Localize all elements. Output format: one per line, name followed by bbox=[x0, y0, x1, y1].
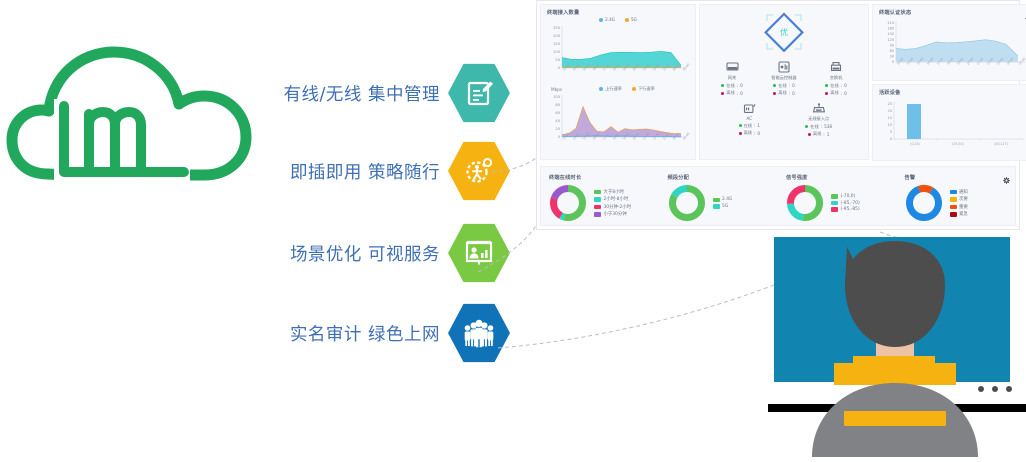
offline-count: 0 bbox=[740, 91, 743, 96]
offline-label: 离线 bbox=[830, 90, 838, 96]
card-device-status: 优 网关 bbox=[699, 4, 869, 160]
device-name: 无线接入点 bbox=[793, 116, 845, 122]
legend-label: 5G bbox=[722, 204, 728, 209]
svg-text:20: 20 bbox=[555, 127, 560, 131]
offline-count: 0 bbox=[844, 91, 847, 96]
chart-auth-status: 210180150 1209060 300 13:00 14:00 15:00 bbox=[873, 17, 1026, 75]
device-cell-switch[interactable]: 交换机 在线 : 0 离线 : 0 bbox=[810, 59, 862, 96]
legend-item: 下行速率 bbox=[632, 86, 655, 92]
legend-label: 大于8小时 bbox=[604, 189, 624, 195]
donut-chart bbox=[547, 182, 589, 224]
cloud-controller-icon bbox=[758, 59, 810, 74]
dot-indicator bbox=[992, 386, 998, 392]
svg-text:0: 0 bbox=[890, 137, 892, 141]
legend-item: 通知 bbox=[950, 189, 968, 195]
online-label: 在线 bbox=[744, 123, 752, 129]
card-title: 活跃设备 bbox=[879, 89, 1026, 96]
device-offline: 离线 : 0 bbox=[810, 90, 862, 96]
legend-swatch bbox=[594, 197, 601, 202]
offline-dot bbox=[825, 92, 828, 95]
feature-icon-hex bbox=[448, 140, 510, 202]
legend-label: 2小时-8小时 bbox=[604, 196, 629, 202]
svg-text:(0,25): (0,25) bbox=[910, 142, 920, 146]
donut-body: 2.4G 5G bbox=[660, 182, 779, 224]
legend-swatch bbox=[599, 18, 603, 22]
legend-item: 上行速率 bbox=[599, 86, 622, 92]
donut-legend: 大于8小时 2小时-8小时 30分钟-2小时 bbox=[594, 189, 631, 218]
device-row: AC 在线 : 1 离线 : 0 bbox=[706, 100, 862, 137]
device-name: 智能云控制器 bbox=[758, 75, 810, 81]
online-label: 在线 bbox=[810, 124, 818, 130]
feature-item-scene-optimization[interactable]: 场景优化 可视服务 bbox=[290, 222, 510, 284]
legend-label: (-95,-85) bbox=[841, 207, 860, 212]
svg-text:150: 150 bbox=[553, 42, 561, 46]
online-dot bbox=[773, 84, 776, 87]
offline-count: 0 bbox=[792, 91, 795, 96]
feature-label: 有线/无线 集中管理 bbox=[284, 81, 440, 106]
rate-chart-unit: Mbps bbox=[551, 87, 562, 92]
donut-alarms: 告警 通知 次要 bbox=[897, 167, 1016, 225]
card-title: 频段分配 bbox=[668, 174, 779, 181]
chart-terminal-access: 250200150 100500 13:00 14:00 15:00 16:00… bbox=[543, 22, 693, 82]
brand-logo bbox=[6, 22, 252, 208]
quality-badge: 优 bbox=[700, 7, 868, 57]
device-online: 在线 : 0 bbox=[810, 83, 862, 89]
legend-swatch bbox=[713, 204, 720, 209]
legend-item: 小于30分钟 bbox=[594, 211, 631, 217]
offline-label: 离线 bbox=[778, 90, 786, 96]
online-label: 在线 bbox=[830, 83, 838, 89]
offline-label: 离线 bbox=[813, 131, 821, 137]
cloud-lm-logo bbox=[6, 22, 252, 208]
legend-swatch bbox=[594, 205, 601, 210]
feature-icon-hex bbox=[448, 62, 510, 124]
donut-body: 通知 次要 重要 紧急 bbox=[897, 182, 1016, 224]
legend-item: (-85,-70) bbox=[831, 201, 860, 206]
chart-throughput-rate: 1008060 40200 13:00 14:00 15:00 16:00 17… bbox=[543, 92, 693, 154]
card-active-devices: 活跃设备 252015 1050 bbox=[872, 84, 1026, 161]
svg-text:5: 5 bbox=[890, 130, 892, 134]
svg-text:10: 10 bbox=[888, 123, 892, 127]
svg-text:01:00: 01:00 bbox=[682, 131, 691, 140]
legend-item: 大于8小时 bbox=[594, 189, 631, 195]
device-cell-access-point[interactable]: 无线接入点 在线 : 538 离线 : 1 bbox=[793, 100, 845, 137]
donut-legend: 通知 次要 重要 紧急 bbox=[950, 189, 968, 218]
online-dot bbox=[739, 124, 742, 127]
device-name: 网关 bbox=[706, 75, 758, 81]
legend-item: 次要 bbox=[950, 196, 968, 202]
card-title: 终端认证状态 bbox=[879, 9, 1026, 16]
rate-chart-legend: 上行速率 下行速率 bbox=[559, 86, 695, 92]
offline-dot bbox=[739, 132, 742, 135]
device-offline: 离线 : 0 bbox=[723, 130, 775, 136]
card-title: 信号强度 bbox=[786, 174, 897, 181]
svg-text:210: 210 bbox=[888, 21, 894, 25]
access-point-icon bbox=[793, 100, 845, 115]
online-dot bbox=[805, 125, 808, 128]
offline-label: 离线 bbox=[744, 130, 752, 136]
device-online: 在线 : 1 bbox=[723, 123, 775, 129]
online-dot bbox=[825, 84, 828, 87]
svg-text:0: 0 bbox=[558, 66, 561, 70]
card-title: 告警 bbox=[905, 174, 1016, 181]
donut-body: (-70,0) (-85,-70) (-95,-85) bbox=[778, 182, 897, 224]
bar-0 bbox=[907, 104, 921, 139]
legend-label: (-70,0) bbox=[841, 194, 856, 199]
legend-label: 30分钟-2小时 bbox=[604, 204, 632, 210]
chart-active-devices: 252015 1050 (0,25) (25,50) bbox=[873, 97, 1026, 155]
ac-controller-icon bbox=[723, 100, 775, 115]
donut-chart bbox=[784, 182, 826, 224]
donut-chart bbox=[903, 182, 945, 224]
svg-text:50: 50 bbox=[555, 58, 560, 62]
dashboard-top-row: 终端接入数量 2.4G 5G 250200150 100500 bbox=[537, 1, 1019, 163]
online-count: 0 bbox=[844, 83, 847, 88]
svg-text:20: 20 bbox=[888, 109, 892, 113]
legend-label: 重要 bbox=[959, 204, 968, 210]
legend-item: (-70,0) bbox=[831, 194, 860, 199]
device-name: AC bbox=[723, 116, 775, 121]
legend-swatch bbox=[632, 87, 636, 91]
legend-swatch bbox=[950, 212, 957, 217]
shirt-stripe bbox=[844, 411, 946, 426]
device-online: 在线 : 0 bbox=[706, 83, 758, 89]
online-count: 538 bbox=[824, 124, 832, 129]
device-cell-cloud-controller[interactable]: 智能云控制器 在线 : 0 离线 : 0 bbox=[758, 59, 810, 96]
online-count: 0 bbox=[792, 83, 795, 88]
card-auth-status: 终端认证状态 210180150 1209060 300 13:00 bbox=[872, 4, 1026, 81]
online-label: 在线 bbox=[778, 83, 786, 89]
donut-band-allocation: 频段分配 2.4G bbox=[660, 167, 779, 225]
gear-person-icon bbox=[448, 140, 510, 202]
svg-text:180: 180 bbox=[888, 27, 894, 31]
svg-text:0: 0 bbox=[558, 135, 561, 139]
dot-indicator bbox=[978, 386, 984, 392]
legend-item: 30分钟-2小时 bbox=[594, 204, 631, 210]
card-title: 终端在线时长 bbox=[549, 174, 660, 181]
legend-label: 紧急 bbox=[959, 211, 968, 217]
dashboard-bottom-row: 终端在线时长 大于8小时 bbox=[537, 163, 1019, 229]
svg-text:30: 30 bbox=[890, 55, 894, 59]
legend-label: (-85,-70) bbox=[841, 201, 860, 206]
gateway-icon bbox=[706, 59, 758, 74]
legend-item: 紧急 bbox=[950, 211, 968, 217]
people-group-icon bbox=[448, 302, 510, 364]
svg-text:0: 0 bbox=[892, 60, 894, 64]
offline-dot bbox=[808, 133, 811, 136]
offline-label: 离线 bbox=[726, 90, 734, 96]
donut-signal-strength: 信号强度 (-70,0) bbox=[778, 167, 897, 225]
svg-text:200: 200 bbox=[553, 34, 561, 38]
legend-label: 通知 bbox=[959, 189, 968, 195]
online-count: 0 bbox=[740, 83, 743, 88]
device-online: 在线 : 538 bbox=[793, 124, 845, 130]
legend-swatch bbox=[950, 190, 957, 195]
offline-dot bbox=[721, 92, 724, 95]
device-status-grid: 网关 在线 : 0 离线 : 0 bbox=[700, 59, 868, 137]
dot-indicator bbox=[1006, 386, 1012, 392]
legend-swatch bbox=[594, 190, 601, 195]
device-offline: 离线 : 1 bbox=[793, 131, 845, 137]
poster-canvas: 有线/无线 集中管理 即插即用 策略随行 bbox=[0, 0, 1026, 457]
feature-item-plug-and-play[interactable]: 即插即用 策略随行 bbox=[290, 140, 510, 202]
svg-text:01:00: 01:00 bbox=[682, 62, 691, 71]
legend-item: 5G bbox=[713, 204, 733, 209]
offline-count: 1 bbox=[827, 132, 830, 137]
legend-swatch bbox=[831, 201, 838, 206]
switch-icon bbox=[810, 59, 862, 74]
legend-item: (-95,-85) bbox=[831, 207, 860, 212]
legend-item: 重要 bbox=[950, 204, 968, 210]
svg-text:100: 100 bbox=[553, 50, 561, 54]
legend-label: 上行速率 bbox=[605, 86, 622, 92]
legend-label: 小于30分钟 bbox=[604, 211, 627, 217]
legend-label: 次要 bbox=[959, 196, 968, 202]
person-at-monitor-illustration bbox=[768, 237, 1026, 457]
device-offline: 离线 : 0 bbox=[758, 90, 810, 96]
donut-legend: (-70,0) (-85,-70) (-95,-85) bbox=[831, 194, 860, 212]
svg-text:100: 100 bbox=[553, 95, 561, 99]
svg-text:80: 80 bbox=[555, 103, 560, 107]
legend-swatch bbox=[599, 87, 603, 91]
legend-swatch bbox=[594, 212, 601, 217]
document-edit-icon bbox=[448, 62, 510, 124]
svg-text:250: 250 bbox=[553, 26, 561, 30]
device-row: 网关 在线 : 0 离线 : 0 bbox=[706, 59, 862, 96]
svg-text:40: 40 bbox=[555, 119, 560, 123]
legend-swatch bbox=[713, 198, 720, 203]
svg-text:120: 120 bbox=[888, 38, 894, 42]
card-terminal-access: 终端接入数量 2.4G 5G 250200150 100500 bbox=[540, 4, 696, 160]
legend-label: 2.4G bbox=[722, 197, 732, 202]
feature-list: 有线/无线 集中管理 即插即用 策略随行 bbox=[250, 62, 510, 402]
legend-swatch bbox=[831, 207, 838, 212]
device-name: 交换机 bbox=[810, 75, 862, 81]
feature-icon-hex bbox=[448, 302, 510, 364]
feature-icon-hex bbox=[448, 222, 510, 284]
feature-label: 场景优化 可视服务 bbox=[290, 241, 440, 266]
device-cell-gateway[interactable]: 网关 在线 : 0 离线 : 0 bbox=[706, 59, 758, 96]
svg-text:90: 90 bbox=[890, 43, 894, 47]
donut-strip: 终端在线时长 大于8小时 bbox=[540, 166, 1016, 226]
legend-swatch bbox=[950, 205, 957, 210]
diamond-badge-icon: 优 bbox=[758, 7, 810, 57]
svg-text:01:00: 01:00 bbox=[1018, 57, 1026, 66]
legend-label: 下行速率 bbox=[638, 86, 655, 92]
legend-swatch bbox=[625, 18, 629, 22]
donut-body: 大于8小时 2小时-8小时 30分钟-2小时 bbox=[541, 182, 660, 224]
online-dot bbox=[721, 84, 724, 87]
gear-icon[interactable] bbox=[1003, 171, 1010, 189]
feature-item-wired-wireless[interactable]: 有线/无线 集中管理 bbox=[284, 62, 510, 124]
device-offline: 离线 : 0 bbox=[706, 90, 758, 96]
legend-item: 2小时-8小时 bbox=[594, 196, 631, 202]
online-label: 在线 bbox=[726, 83, 734, 89]
svg-text:(25,50): (25,50) bbox=[952, 142, 964, 146]
legend-swatch bbox=[831, 194, 838, 199]
legend-item: 2.4G bbox=[713, 197, 733, 202]
svg-text:60: 60 bbox=[890, 49, 894, 53]
dashboard-panel: 终端接入数量 2.4G 5G 250200150 100500 bbox=[536, 0, 1020, 230]
dashboard-right-column: 终端认证状态 210180150 1209060 300 13:00 bbox=[872, 4, 1026, 160]
quality-badge-text: 优 bbox=[780, 27, 788, 37]
device-cell-ac[interactable]: AC 在线 : 1 离线 : 0 bbox=[723, 100, 775, 137]
offline-dot bbox=[773, 92, 776, 95]
feature-item-real-name-audit[interactable]: 实名审计 绿色上网 bbox=[290, 302, 510, 364]
svg-text:25: 25 bbox=[888, 102, 892, 106]
legend-swatch bbox=[950, 197, 957, 202]
svg-text:60: 60 bbox=[555, 111, 560, 115]
online-count: 1 bbox=[757, 123, 760, 128]
donut-terminal-online-duration: 终端在线时长 大于8小时 bbox=[541, 167, 660, 225]
feature-label: 实名审计 绿色上网 bbox=[290, 321, 440, 346]
svg-text:150: 150 bbox=[888, 32, 894, 36]
svg-text:(50,127): (50,127) bbox=[994, 142, 1008, 146]
offline-count: 0 bbox=[757, 131, 760, 136]
donut-chart bbox=[666, 182, 708, 224]
donut-legend: 2.4G 5G bbox=[713, 197, 733, 209]
svg-text:15: 15 bbox=[888, 116, 892, 120]
presentation-chart-icon bbox=[448, 222, 510, 284]
feature-label: 即插即用 策略随行 bbox=[290, 159, 440, 184]
card-title: 终端接入数量 bbox=[547, 9, 695, 16]
device-online: 在线 : 0 bbox=[758, 83, 810, 89]
